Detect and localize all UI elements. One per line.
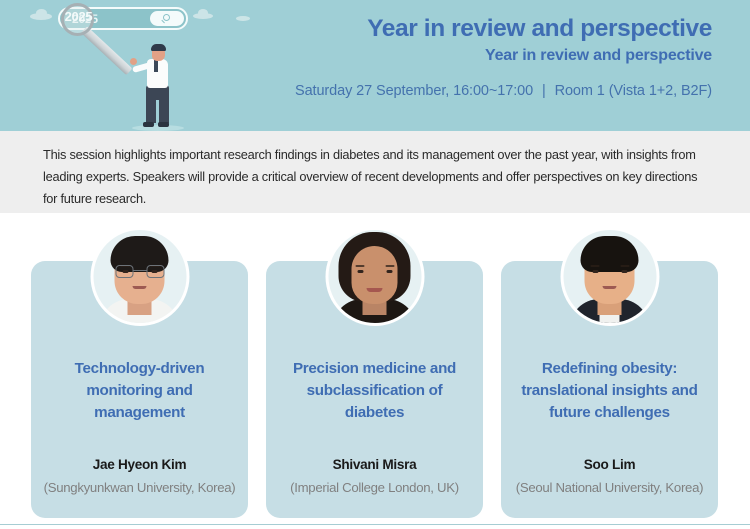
talk-title: Precision medicine and subclassification… <box>278 358 471 424</box>
cloud-icon <box>193 13 213 19</box>
portrait-eye-left <box>592 270 598 273</box>
glasses-icon <box>115 265 164 278</box>
bottom-divider <box>0 524 750 525</box>
search-button <box>150 11 184 26</box>
portrait-illustration <box>328 230 421 323</box>
portrait-mouth <box>133 286 147 289</box>
speaker-card[interactable]: Technology-driven monitoring and managem… <box>31 261 248 518</box>
speaker-name: Shivani Misra <box>276 457 473 472</box>
portrait-brow-right <box>385 265 394 267</box>
page-title: Year in review and perspective <box>282 14 712 44</box>
portrait-illustration <box>93 230 186 323</box>
speaker-affiliation: (Imperial College London, UK) <box>274 478 475 497</box>
magnifier-handle <box>81 26 132 75</box>
person-hand <box>130 58 137 65</box>
cloud-icon <box>236 16 250 21</box>
session-poster: 2025 2025 Ye <box>0 0 750 529</box>
person-shoe-left <box>143 122 154 127</box>
portrait-hair <box>581 236 639 272</box>
description-band: This session highlights important resear… <box>0 131 750 213</box>
portrait-head <box>352 246 398 304</box>
session-datetime: Saturday 27 September, 16:00~17:00 <box>295 83 533 99</box>
portrait-eye-left <box>357 270 363 273</box>
person-illustration <box>128 44 188 131</box>
speaker-card[interactable]: Redefining obesity: translational insigh… <box>501 261 718 518</box>
portrait-brow-left <box>590 265 599 267</box>
portrait-illustration <box>563 230 656 323</box>
speaker-name: Jae Hyeon Kim <box>41 457 238 472</box>
search-icon <box>163 14 170 21</box>
session-room: Room 1 (Vista 1+2, B2F) <box>555 83 712 99</box>
portrait-mouth <box>603 286 617 289</box>
cloud-icon <box>30 13 52 20</box>
person-tie <box>154 60 158 72</box>
page-subtitle: Year in review and perspective <box>282 46 712 66</box>
speaker-cards: Technology-driven monitoring and managem… <box>0 213 750 513</box>
avatar-shivani-misra <box>328 230 421 323</box>
portrait-eye-right <box>621 270 627 273</box>
portrait-brow-left <box>355 265 364 267</box>
person-hair <box>151 44 166 51</box>
avatar-ring <box>90 227 189 326</box>
meta-separator: | <box>537 83 551 99</box>
portrait-mouth <box>367 288 383 292</box>
talk-title: Redefining obesity: translational insigh… <box>513 358 706 424</box>
header-illustration: 2025 2025 <box>0 0 290 131</box>
talk-title: Technology-driven monitoring and managem… <box>43 358 236 424</box>
person-leg-gap <box>156 100 159 124</box>
avatar-ring <box>560 227 659 326</box>
magnifier-lens-year-text: 2025 <box>62 9 95 24</box>
avatar-jae-hyeon-kim <box>93 230 186 323</box>
speaker-card[interactable]: Precision medicine and subclassification… <box>266 261 483 518</box>
header-text-block: Year in review and perspective Year in r… <box>282 14 712 99</box>
avatar-soo-lim <box>563 230 656 323</box>
header-band: 2025 2025 Ye <box>0 0 750 131</box>
speaker-affiliation: (Seoul National University, Korea) <box>509 478 710 497</box>
session-meta: Saturday 27 September, 16:00~17:00 | Roo… <box>282 83 712 99</box>
speaker-affiliation: (Sungkyunkwan University, Korea) <box>39 478 240 497</box>
avatar-ring <box>325 227 424 326</box>
person-shoe-right <box>158 122 169 127</box>
portrait-brow-right <box>620 265 629 267</box>
speaker-name: Soo Lim <box>511 457 708 472</box>
portrait-eye-right <box>386 270 392 273</box>
session-description: This session highlights important resear… <box>43 144 711 210</box>
